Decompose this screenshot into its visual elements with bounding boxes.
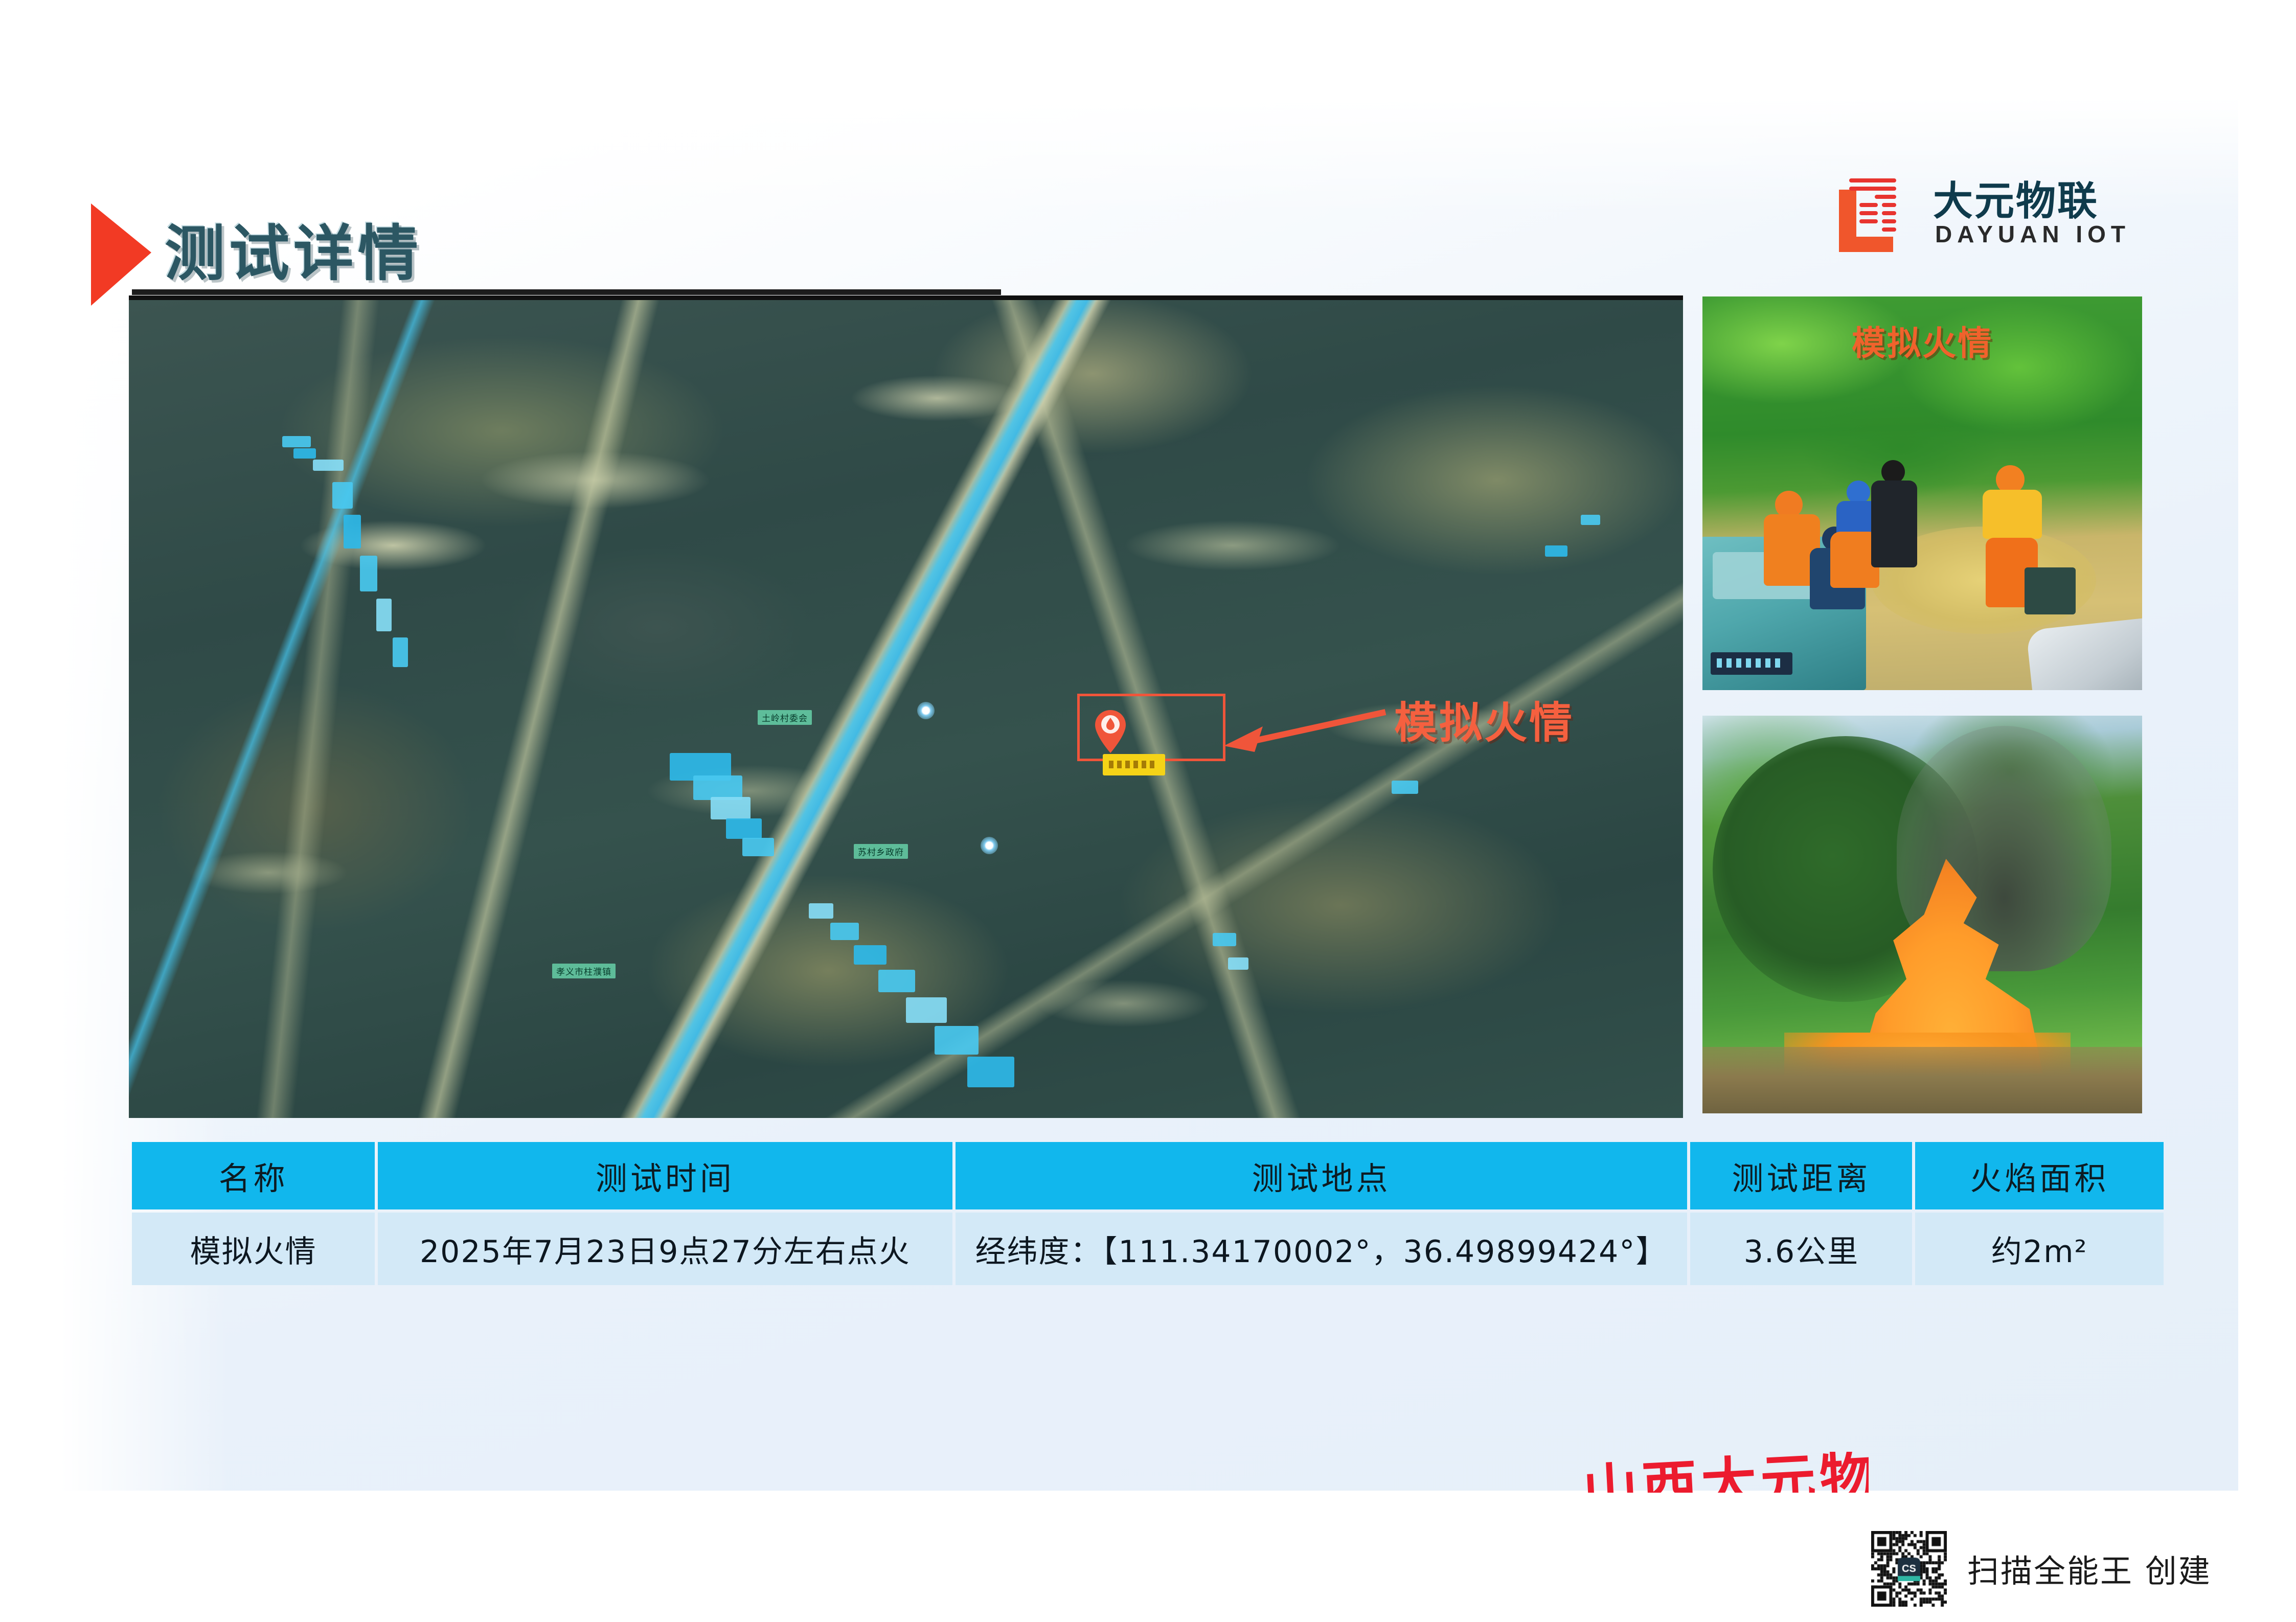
- logo-name-cn: 大元物联: [1933, 169, 2099, 226]
- map-building: [809, 903, 833, 919]
- camscanner-watermark: 扫描全能王 创建: [1871, 1531, 2290, 1608]
- map-building: [313, 460, 344, 471]
- red-stamp-text: 山西大元物联科技: [1582, 1452, 1869, 1493]
- photo-simulated-fire-crew[interactable]: 模拟火情: [1702, 296, 2142, 690]
- map-building: [830, 923, 859, 940]
- fire-callout-arrow-icon: [1223, 709, 1386, 755]
- map-building: [360, 556, 377, 591]
- table-header-area: 火焰面积: [1915, 1142, 2164, 1209]
- map-building: [726, 818, 762, 839]
- map-building: [1228, 957, 1248, 970]
- map-building: [393, 637, 408, 667]
- company-red-stamp: 山西大元物联科技: [1582, 1452, 1869, 1493]
- map-building: [711, 797, 751, 819]
- page-title: 测试详情: [165, 204, 422, 292]
- map-building: [332, 482, 353, 509]
- map-building: [376, 599, 392, 631]
- flame-photo-ground: [1702, 1047, 2142, 1113]
- cell-distance: 3.6公里: [1690, 1213, 1912, 1285]
- qr-code-icon: [1871, 1531, 1947, 1607]
- map-building: [1392, 781, 1418, 794]
- map-place-label: 苏村乡政府: [854, 844, 908, 859]
- camscanner-watermark-text: 扫描全能王 创建: [1967, 1545, 2212, 1591]
- fire-map-yellow-tag: [1103, 754, 1165, 775]
- table-header-distance: 测试距离: [1690, 1142, 1912, 1209]
- crew-equipment-case: [2025, 567, 2076, 614]
- table-header-location: 测试地点: [956, 1142, 1688, 1209]
- cell-area: 约2m²: [1915, 1213, 2164, 1285]
- map-building: [906, 997, 947, 1023]
- map-place-label: 土岭村委会: [758, 710, 812, 725]
- truck-license-plate: [1711, 652, 1792, 675]
- cell-name: 模拟火情: [132, 1213, 375, 1285]
- map-place-label: 孝义市柱濮镇: [552, 964, 616, 978]
- title-underline-rule: [132, 289, 1001, 295]
- map-building: [1213, 933, 1236, 946]
- test-details-table: 名称 测试时间 测试地点 测试距离 火焰面积 模拟火情 2025年7月23日9点…: [129, 1139, 2167, 1288]
- satellite-map-panel[interactable]: 土岭村委会 苏村乡政府 孝义市柱濮镇 模拟火情 火哨兵: [129, 295, 1683, 1118]
- brand-logo: 大元物联 DAYUAN IOT: [1833, 171, 2140, 266]
- table-header-row: 名称 测试时间 测试地点 测试距离 火焰面积: [132, 1142, 2164, 1209]
- map-building: [967, 1057, 1014, 1087]
- table-header-name: 名称: [132, 1142, 375, 1209]
- map-building: [293, 448, 316, 459]
- map-building: [854, 945, 886, 965]
- map-building: [344, 515, 361, 549]
- logo-name-en: DAYUAN IOT: [1935, 220, 2130, 248]
- cell-time: 2025年7月23日9点27分左右点火: [378, 1213, 952, 1285]
- table-row: 模拟火情 2025年7月23日9点27分左右点火 经纬度：【111.341700…: [132, 1213, 2164, 1285]
- map-poi-dot: [917, 702, 935, 719]
- photo-caption-simulated-fire: 模拟火情: [1702, 316, 2142, 365]
- map-building: [878, 970, 915, 992]
- photo-flame[interactable]: [1702, 716, 2142, 1113]
- fire-location-pin-icon: [1094, 709, 1127, 754]
- map-building: [742, 838, 774, 856]
- dayuan-logo-icon: [1833, 175, 1920, 257]
- map-label-simulated-fire: 模拟火情: [1394, 689, 1574, 750]
- map-building: [1545, 545, 1567, 557]
- map-poi-dot: [981, 837, 998, 854]
- cell-location: 经纬度：【111.34170002°，36.49899424°】: [956, 1213, 1688, 1285]
- map-building: [282, 436, 311, 447]
- map-building: [935, 1026, 979, 1055]
- map-building: [693, 775, 742, 800]
- map-building: [1581, 515, 1600, 525]
- table-header-time: 测试时间: [378, 1142, 952, 1209]
